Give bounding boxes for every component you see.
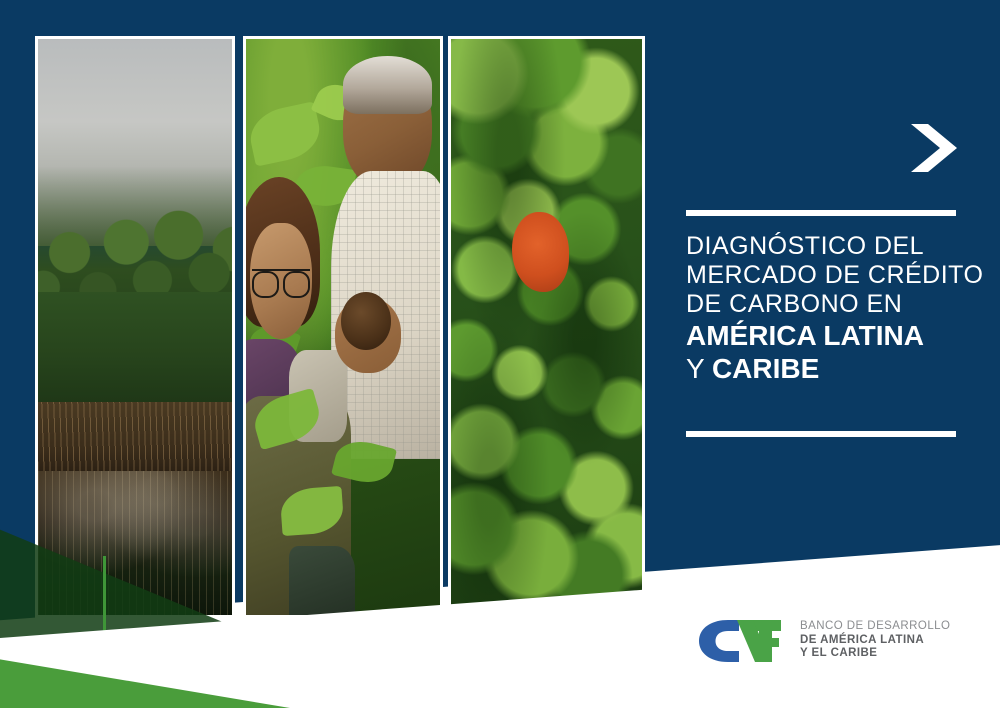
logo-line-2: DE AMÉRICA LATINA <box>800 634 950 648</box>
photo-panel-people <box>243 36 443 618</box>
title-line-5-rest: CARIBE <box>712 353 819 384</box>
rubber-boot <box>289 546 355 618</box>
title-line-5: Y CARIBE <box>686 352 976 385</box>
water-reflection-layer <box>38 471 232 615</box>
foliage-layer <box>38 292 232 419</box>
report-cover: DIAGNÓSTICO DEL MERCADO DE CRÉDITO DE CA… <box>0 0 1000 708</box>
caf-logo-icon <box>697 617 789 665</box>
photo-panel-mangrove <box>35 36 235 618</box>
title-line-2: MERCADO DE CRÉDITO <box>686 261 976 290</box>
rule-above-title <box>686 210 956 216</box>
logo-line-3: Y EL CARIBE <box>800 647 950 661</box>
man-hair <box>343 56 432 114</box>
caf-logo-text: BANCO DE DESARROLLO DE AMÉRICA LATINA Y … <box>800 617 950 661</box>
title-line-3: DE CARBONO EN <box>686 290 976 319</box>
mangrove-forest-image <box>38 39 232 615</box>
logo-line-1: BANCO DE DESARROLLO <box>800 620 950 634</box>
canopy-shadows <box>451 39 642 615</box>
people-soil-image <box>246 39 440 615</box>
caf-logo: BANCO DE DESARROLLO DE AMÉRICA LATINA Y … <box>697 617 950 665</box>
rule-below-title <box>686 431 956 437</box>
orange-flowering-tree <box>512 212 569 293</box>
eyeglasses-icon <box>252 269 310 294</box>
page-title: DIAGNÓSTICO DEL MERCADO DE CRÉDITO DE CA… <box>686 232 976 385</box>
aerial-rainforest-image <box>451 39 642 615</box>
title-line-4: AMÉRICA LATINA <box>686 319 976 352</box>
chevron-right-icon <box>911 124 957 172</box>
title-line-5-lead: Y <box>686 353 712 384</box>
photo-panel-aerial-forest <box>448 36 645 618</box>
title-line-1: DIAGNÓSTICO DEL <box>686 232 976 261</box>
